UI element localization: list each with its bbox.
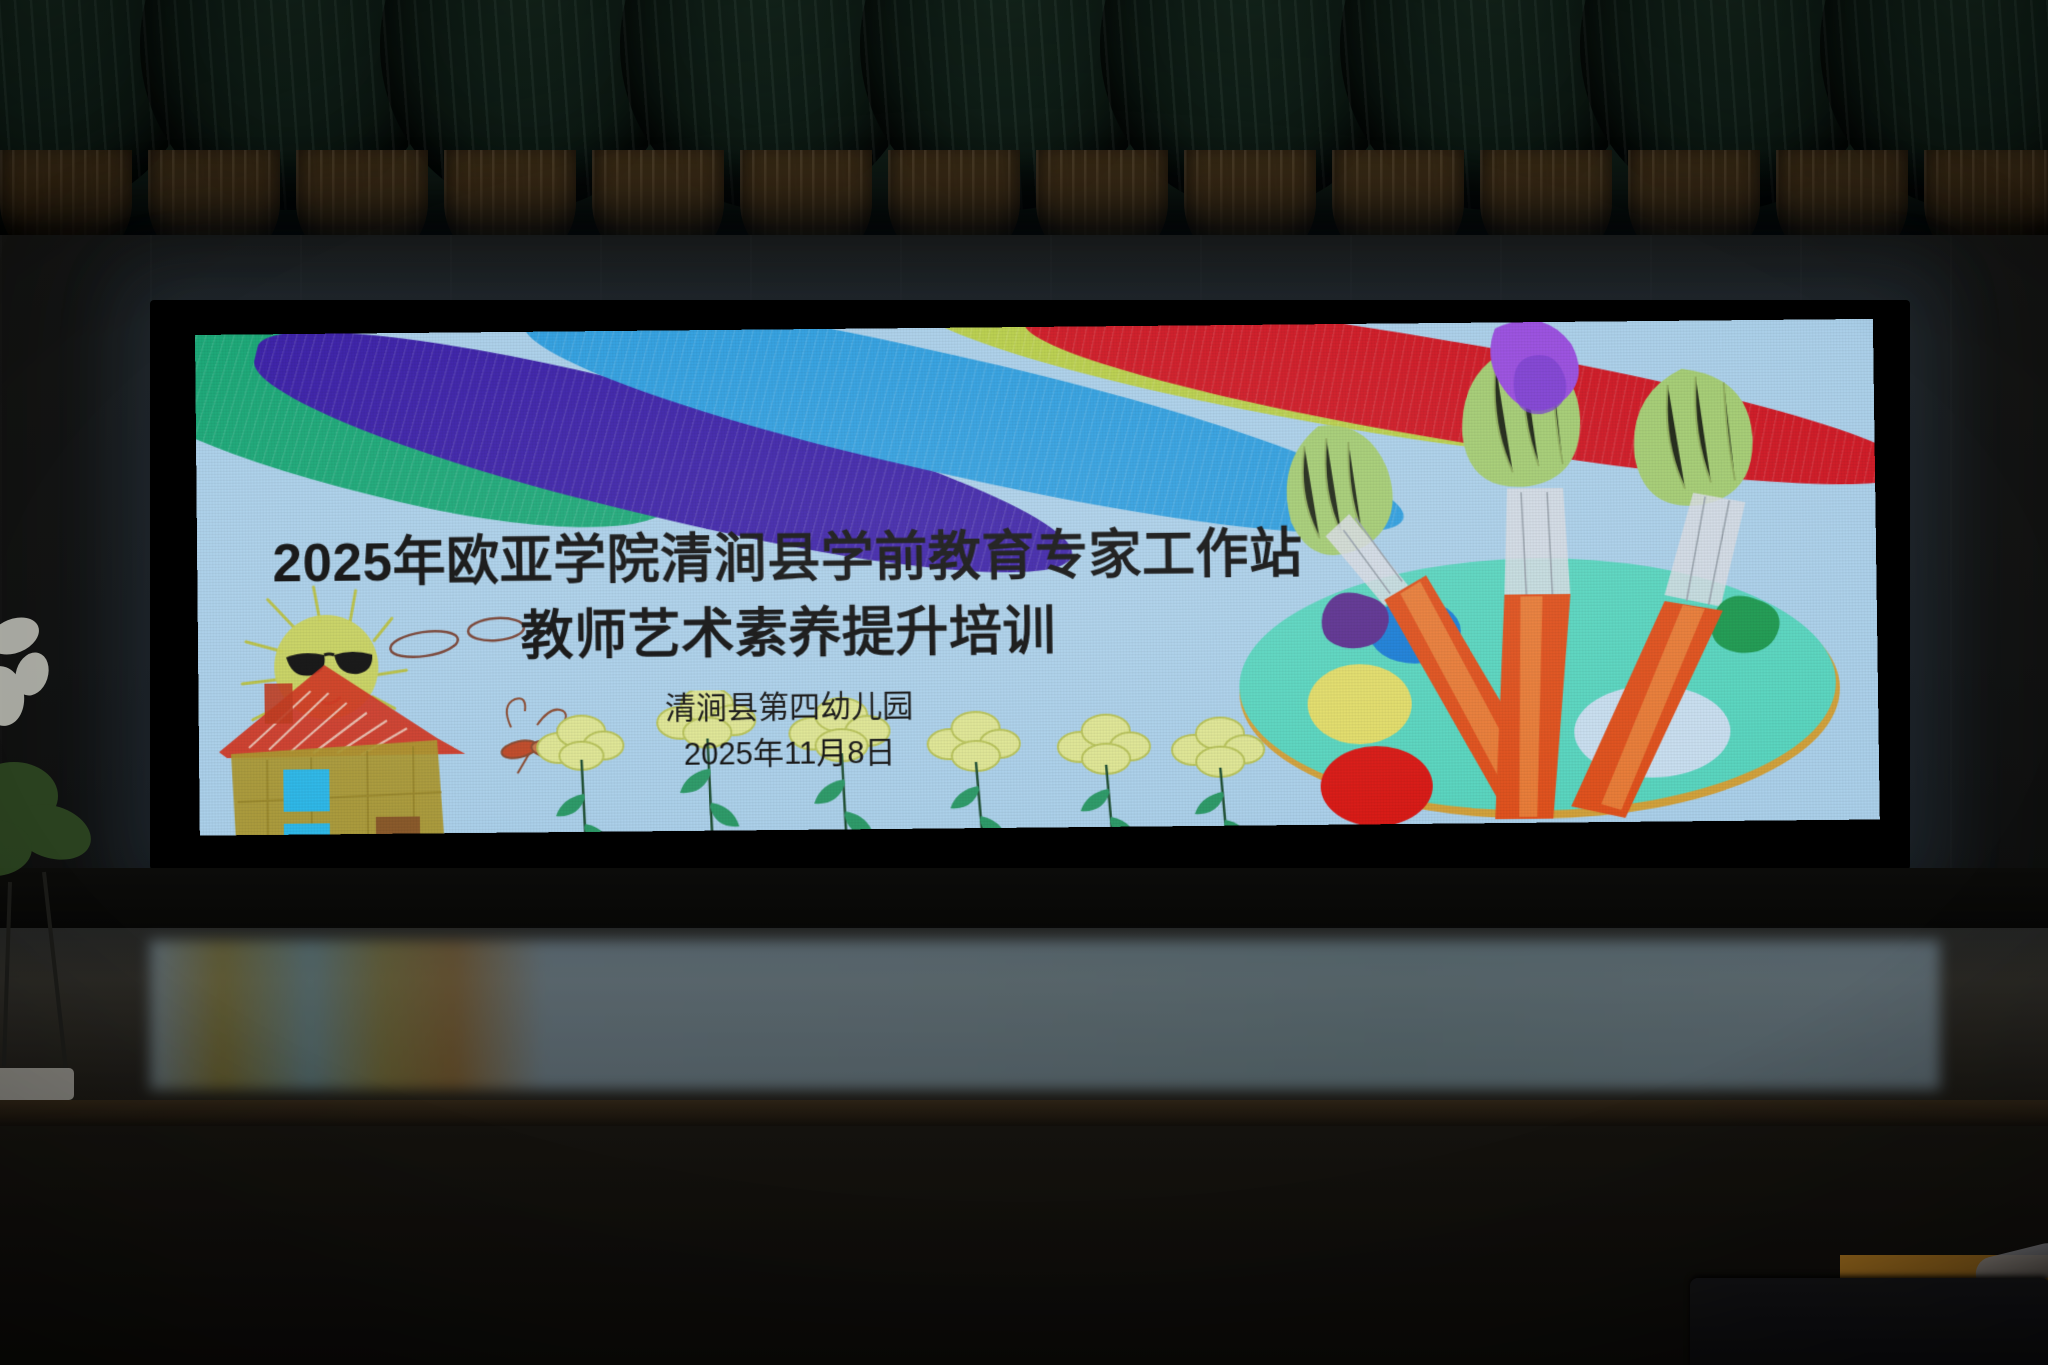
stage-wood-lip [0, 1100, 2048, 1126]
curtain-shadow [0, 150, 2048, 235]
auditorium-photo: 2025年欧亚学院清涧县学前教育专家工作站 教师艺术素养提升培训 清涧县第四幼儿… [0, 0, 2048, 1365]
plant-leaves [0, 762, 98, 876]
door [376, 816, 421, 835]
window-lower [284, 823, 330, 835]
plant-flowers [0, 610, 54, 728]
led-screen: 2025年欧亚学院清涧县学前教育专家工作站 教师艺术素养提升培训 清涧县第四幼儿… [195, 319, 1880, 836]
chair-back [1690, 1278, 2048, 1365]
stage-front-edge [0, 868, 2048, 928]
slide-title-line-2: 教师艺术素养提升培训 [198, 595, 1380, 675]
brush-bristle [1633, 368, 1754, 506]
stage-curtain [0, 0, 2048, 235]
floor-sheen [0, 928, 2048, 1128]
plant-stand [4, 872, 66, 1070]
slide-title-line-1: 2025年欧亚学院清涧县学前教育专家工作站 [197, 520, 1378, 600]
plant-pot-base [0, 1068, 74, 1100]
brush-ferrule [1503, 488, 1570, 597]
potted-plant [0, 600, 130, 1160]
slide-text-block: 2025年欧亚学院清涧县学前教育专家工作站 教师艺术素养提升培训 清涧县第四幼儿… [197, 520, 1381, 782]
presentation-slide: 2025年欧亚学院清涧县学前教育专家工作站 教师艺术素养提升培训 清涧县第四幼儿… [195, 319, 1880, 836]
